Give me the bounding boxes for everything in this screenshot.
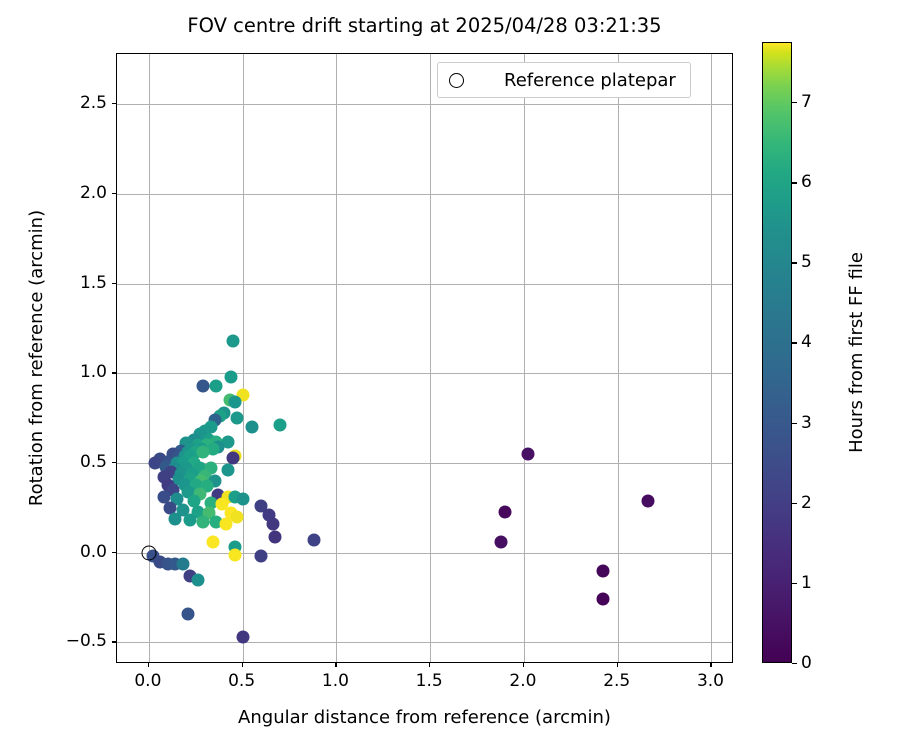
scatter-point (227, 451, 240, 464)
scatter-point (210, 379, 223, 392)
x-tick-mark (523, 663, 524, 667)
colorbar-tick-mark (792, 503, 797, 504)
colorbar-tick-label: 5 (801, 252, 812, 272)
scatter-point (221, 464, 234, 477)
colorbar-tick-label: 7 (801, 92, 812, 112)
colorbar-tick-label: 1 (801, 573, 812, 593)
page-title: FOV centre drift starting at 2025/04/28 … (116, 14, 733, 37)
legend-entry-label: Reference platepar (504, 70, 676, 91)
x-tick-mark (429, 663, 430, 667)
y-tick-mark (112, 193, 116, 194)
gridline-horizontal (117, 194, 732, 195)
y-tick-mark (112, 641, 116, 642)
y-axis-label: Rotation from reference (arcmin) (26, 53, 47, 663)
x-tick-mark (242, 663, 243, 667)
scatter-point (176, 557, 189, 570)
gridline-horizontal (117, 104, 732, 105)
scatter-point (596, 564, 609, 577)
x-tick-label: 0.5 (228, 671, 255, 691)
scatter-point (521, 448, 534, 461)
y-tick-label: 2.0 (80, 183, 107, 203)
x-tick-mark (148, 663, 149, 667)
scatter-point (169, 512, 182, 525)
x-tick-mark (335, 663, 336, 667)
scatter-point (266, 518, 279, 531)
gridline-vertical (243, 54, 244, 662)
scatter-point (307, 534, 320, 547)
y-tick-label: 1.5 (80, 273, 107, 293)
colorbar-tick-mark (792, 583, 797, 584)
x-tick-mark (617, 663, 618, 667)
y-tick-mark (112, 462, 116, 463)
gridline-horizontal (117, 373, 732, 374)
y-tick-label: 0.0 (80, 542, 107, 562)
scatter-point (236, 631, 249, 644)
scatter-point (495, 536, 508, 549)
scatter-point (206, 536, 219, 549)
scatter-point (229, 548, 242, 561)
scatter-point (197, 516, 210, 529)
colorbar-tick-mark (792, 102, 797, 103)
figure-canvas: FOV centre drift starting at 2025/04/28 … (0, 0, 900, 750)
colorbar-tick-label: 0 (801, 653, 812, 673)
x-tick-mark (710, 663, 711, 667)
scatter-point (219, 518, 232, 531)
scatter-point (255, 550, 268, 563)
x-tick-label: 1.5 (416, 671, 443, 691)
scatter-point (274, 419, 287, 432)
colorbar-tick-mark (792, 342, 797, 343)
scatter-point (229, 396, 242, 409)
y-tick-mark (112, 103, 116, 104)
gridline-vertical (149, 54, 150, 662)
scatter-point (499, 505, 512, 518)
y-tick-label: 2.5 (80, 93, 107, 113)
scatter-point (227, 335, 240, 348)
scatter-point (184, 514, 197, 527)
gridline-vertical (430, 54, 431, 662)
scatter-point (236, 492, 249, 505)
gridline-horizontal (117, 642, 732, 643)
x-tick-label: 0.0 (134, 671, 161, 691)
scatter-point (197, 446, 210, 459)
scatter-point (191, 573, 204, 586)
y-tick-mark (112, 372, 116, 373)
reference-platepar-marker (141, 545, 156, 560)
scatter-point (596, 593, 609, 606)
colorbar-tick-mark (792, 663, 797, 664)
y-tick-mark (112, 552, 116, 553)
gridline-vertical (336, 54, 337, 662)
gridline-vertical (618, 54, 619, 662)
x-tick-label: 2.0 (509, 671, 536, 691)
scatter-point (197, 379, 210, 392)
gridline-vertical (524, 54, 525, 662)
scatter-point (268, 530, 281, 543)
gridline-horizontal (117, 284, 732, 285)
colorbar-gradient (762, 42, 792, 663)
legend[interactable]: Reference platepar (437, 62, 691, 98)
colorbar-tick-mark (792, 262, 797, 263)
scatter-point (231, 510, 244, 523)
legend-circle-icon (449, 73, 464, 88)
x-tick-label: 2.5 (603, 671, 630, 691)
scatter-point (182, 607, 195, 620)
x-tick-label: 3.0 (697, 671, 724, 691)
colorbar-label: Hours from first FF file (846, 42, 867, 663)
x-axis-label: Angular distance from reference (arcmin) (116, 707, 733, 728)
gridline-horizontal (117, 553, 732, 554)
colorbar-tick-label: 3 (801, 413, 812, 433)
colorbar-tick-label: 6 (801, 172, 812, 192)
scatter-point (225, 370, 238, 383)
y-tick-mark (112, 283, 116, 284)
scatter-point (231, 412, 244, 425)
scatter-point (641, 494, 654, 507)
gridline-vertical (711, 54, 712, 662)
colorbar-tick-label: 4 (801, 332, 812, 352)
scatter-point (246, 421, 259, 434)
y-tick-label: −0.5 (66, 631, 107, 651)
colorbar-tick-mark (792, 423, 797, 424)
plot-area[interactable] (116, 53, 733, 663)
colorbar-tick-label: 2 (801, 493, 812, 513)
y-tick-label: 1.0 (80, 362, 107, 382)
x-tick-label: 1.0 (322, 671, 349, 691)
colorbar-tick-mark (792, 182, 797, 183)
y-tick-label: 0.5 (80, 452, 107, 472)
